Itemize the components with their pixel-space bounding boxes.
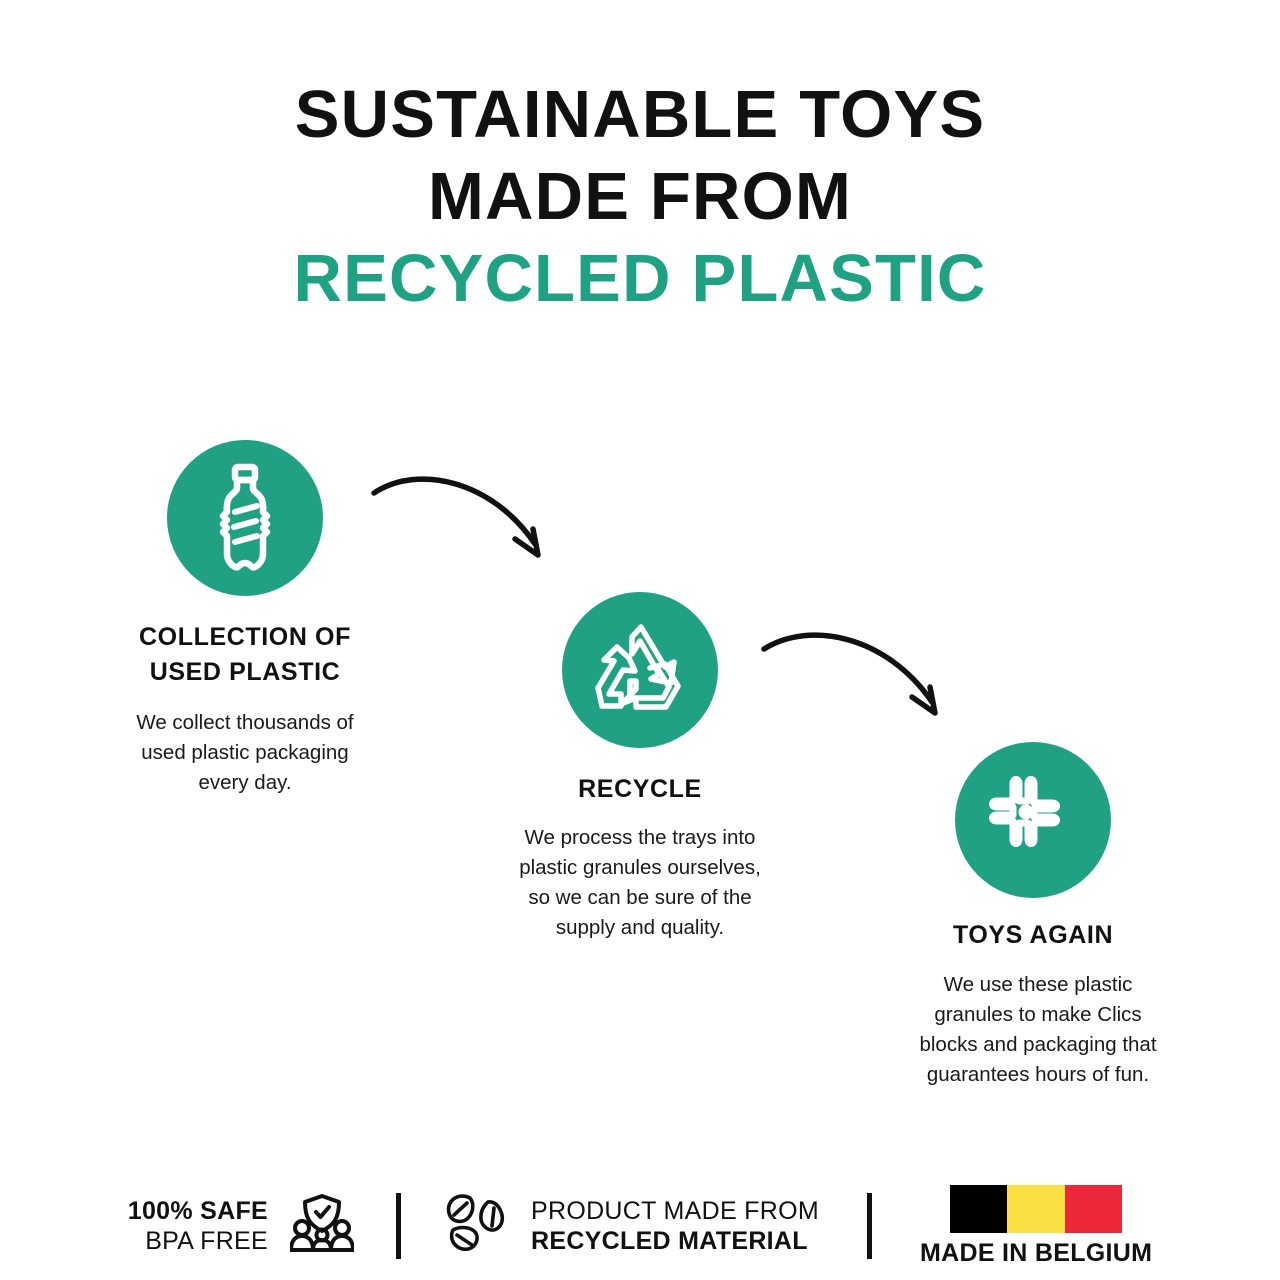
footer-badges: 100% SAFE BPA FREE: [0, 1178, 1280, 1274]
step-body-collection: We collect thousands of used plastic pac…: [65, 708, 425, 798]
belgium-flag-stripe-black: [950, 1185, 1007, 1233]
step-body-recycle: We process the trays into plastic granul…: [455, 823, 825, 943]
clics-block-icon: [983, 770, 1083, 870]
badge-safe-line-1: 100% SAFE: [128, 1196, 268, 1226]
badge-recycled-line-2: RECYCLED MATERIAL: [531, 1226, 819, 1256]
title-line-3: RECYCLED PLASTIC: [0, 238, 1280, 320]
badge-recycled-material: PRODUCT MADE FROM RECYCLED MATERIAL: [443, 1193, 819, 1260]
badge-recycled-text: PRODUCT MADE FROM RECYCLED MATERIAL: [531, 1196, 819, 1256]
badge-made-in-belgium: MADE IN BELGIUM: [920, 1185, 1152, 1268]
badge-safe-text: 100% SAFE BPA FREE: [128, 1196, 268, 1256]
made-in-belgium-label: MADE IN BELGIUM: [920, 1239, 1152, 1268]
three-leaves-icon: [443, 1193, 509, 1260]
step-icon-circle-collection: [167, 440, 323, 596]
footer-divider-2: [867, 1193, 872, 1259]
footer-divider-1: [396, 1193, 401, 1259]
badge-recycled-line-1: PRODUCT MADE FROM: [531, 1196, 819, 1226]
curved-arrow-icon-1: [372, 466, 572, 576]
badge-safe-line-2: BPA FREE: [128, 1226, 268, 1256]
step-heading-collection: COLLECTION OF USED PLASTIC: [65, 620, 425, 690]
step-icon-circle-toys-again: [955, 742, 1111, 898]
step-body-toys-again: We use these plastic granules to make Cl…: [848, 970, 1228, 1090]
badge-100-percent-safe: 100% SAFE BPA FREE: [128, 1193, 354, 1260]
belgium-flag-stripe-yellow: [1007, 1185, 1064, 1233]
belgium-flag-stripe-red: [1065, 1185, 1122, 1233]
curved-arrow-icon-2: [762, 622, 972, 732]
recycle-icon: [592, 624, 688, 716]
title-line-1: SUSTAINABLE TOYS: [0, 74, 1280, 156]
step-heading-recycle: RECYCLE: [460, 772, 820, 807]
belgium-flag-icon: [950, 1185, 1122, 1233]
plastic-bottle-icon: [199, 462, 291, 574]
page-title: SUSTAINABLE TOYS MADE FROM RECYCLED PLAS…: [0, 74, 1280, 320]
title-line-2: MADE FROM: [0, 156, 1280, 238]
step-heading-toys-again: TOYS AGAIN: [853, 918, 1213, 953]
step-icon-circle-recycle: [562, 592, 718, 748]
shield-check-family-icon: [290, 1193, 354, 1260]
